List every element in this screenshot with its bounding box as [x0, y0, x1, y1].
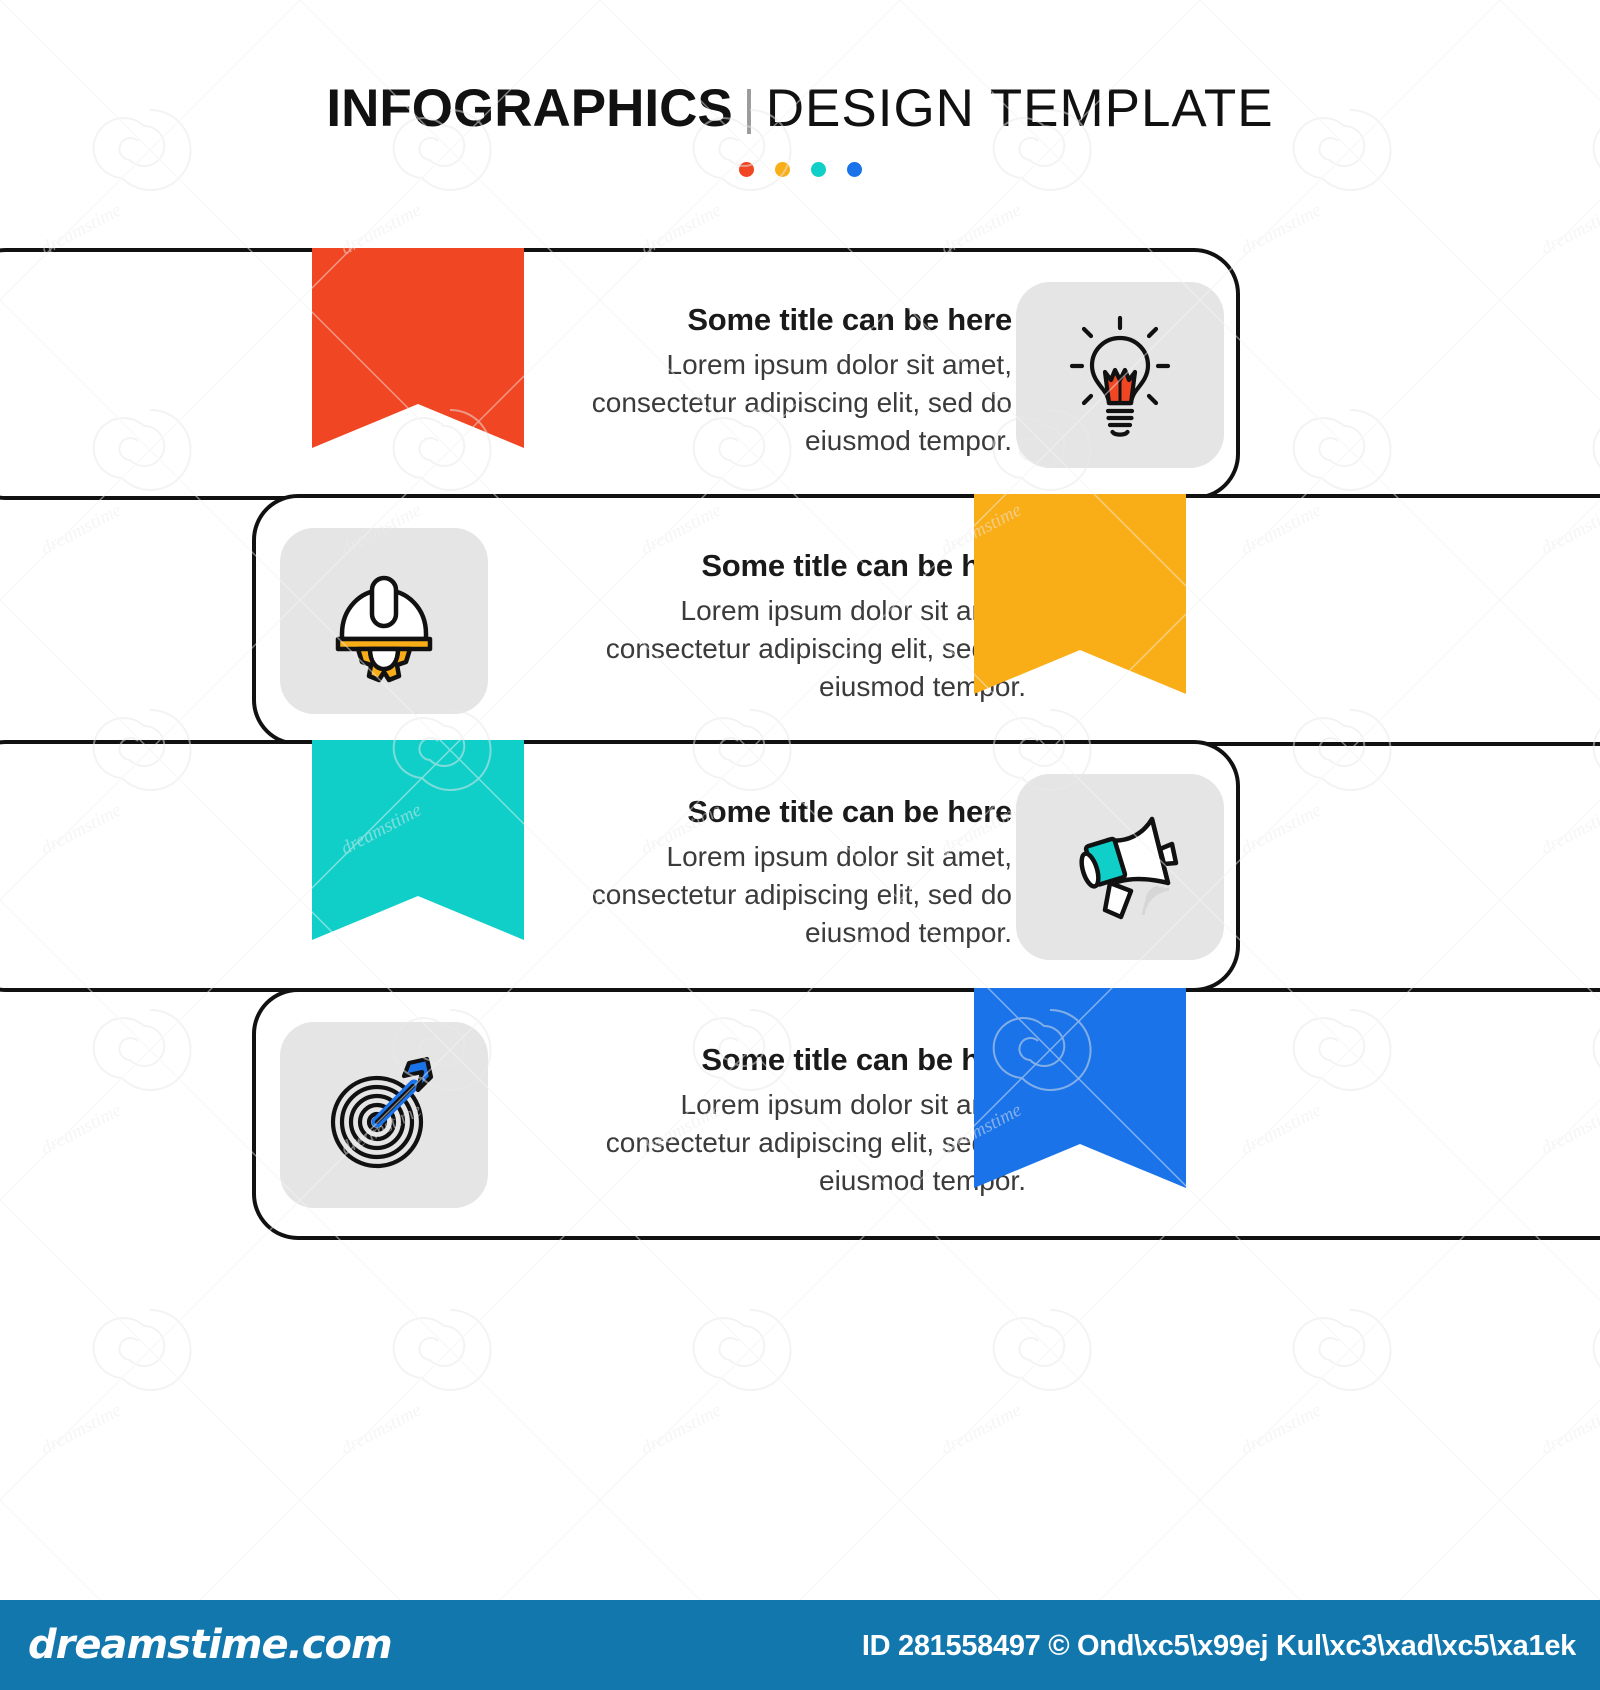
step-row-04[interactable]: Some title can be here Lorem ipsum dolor…: [252, 988, 1600, 1240]
step-description-03: Lorem ipsum dolor sit amet, consectetur …: [542, 838, 1012, 952]
step-title-01: Some title can be here: [542, 302, 1012, 338]
step-iconbox-01: [1016, 282, 1224, 468]
lightbulb-icon: [1060, 310, 1180, 440]
step-text-04: Some title can be here Lorem ipsum dolor…: [556, 1042, 1026, 1200]
step-text-01: Some title can be here Lorem ipsum dolor…: [542, 302, 1012, 460]
target-arrow-icon: [319, 1050, 449, 1180]
dot-red-icon: [739, 162, 754, 177]
ribbon-shape-02: [974, 494, 1186, 694]
step-text-02: Some title can be here Lorem ipsum dolor…: [556, 548, 1026, 706]
step-iconbox-02: [280, 528, 488, 714]
image-id-credit: ID 281558497 © Ond\xc5\x99ej Kul\xc3\xad…: [862, 1630, 1576, 1663]
step-ribbon-02: 02: [974, 494, 1186, 694]
ribbon-shape-04: [974, 988, 1186, 1188]
page-header: INFOGRAPHICS|DESIGN TEMPLATE: [0, 78, 1600, 177]
step-ribbon-04: 04: [974, 988, 1186, 1188]
step-row-03[interactable]: 03 Some title can be here Lorem ipsum do…: [0, 740, 1240, 992]
step-description-01: Lorem ipsum dolor sit amet, consectetur …: [542, 346, 1012, 460]
step-row-01[interactable]: 01 Some title can be here Lorem ipsum do…: [0, 248, 1240, 500]
ribbon-shape-03: [312, 740, 524, 940]
step-description-02: Lorem ipsum dolor sit amet, consectetur …: [556, 592, 1026, 706]
page-title: INFOGRAPHICS|DESIGN TEMPLATE: [0, 78, 1600, 142]
title-bold: INFOGRAPHICS: [326, 79, 732, 138]
dreamstime-logo[interactable]: dreamstime.com: [28, 1622, 392, 1668]
step-title-02: Some title can be here: [556, 548, 1026, 584]
title-separator: |: [733, 82, 766, 135]
step-iconbox-03: [1016, 774, 1224, 960]
step-iconbox-04: [280, 1022, 488, 1208]
color-dots: [0, 162, 1600, 177]
dot-yellow-icon: [775, 162, 790, 177]
safety-helmet-gear-icon: [319, 556, 449, 686]
step-title-03: Some title can be here: [542, 794, 1012, 830]
step-title-04: Some title can be here: [556, 1042, 1026, 1078]
dot-blue-icon: [847, 162, 862, 177]
ribbon-shape-01: [312, 248, 524, 448]
dot-teal-icon: [811, 162, 826, 177]
title-light: DESIGN TEMPLATE: [766, 79, 1274, 138]
step-row-02[interactable]: Some title can be here Lorem ipsum dolor…: [252, 494, 1600, 746]
megaphone-icon: [1055, 807, 1185, 927]
step-text-03: Some title can be here Lorem ipsum dolor…: [542, 794, 1012, 952]
step-ribbon-01: 01: [312, 248, 524, 448]
stock-footer-bar: dreamstime.com ID 281558497 © Ond\xc5\x9…: [0, 1600, 1600, 1690]
step-description-04: Lorem ipsum dolor sit amet, consectetur …: [556, 1086, 1026, 1200]
step-ribbon-03: 03: [312, 740, 524, 940]
